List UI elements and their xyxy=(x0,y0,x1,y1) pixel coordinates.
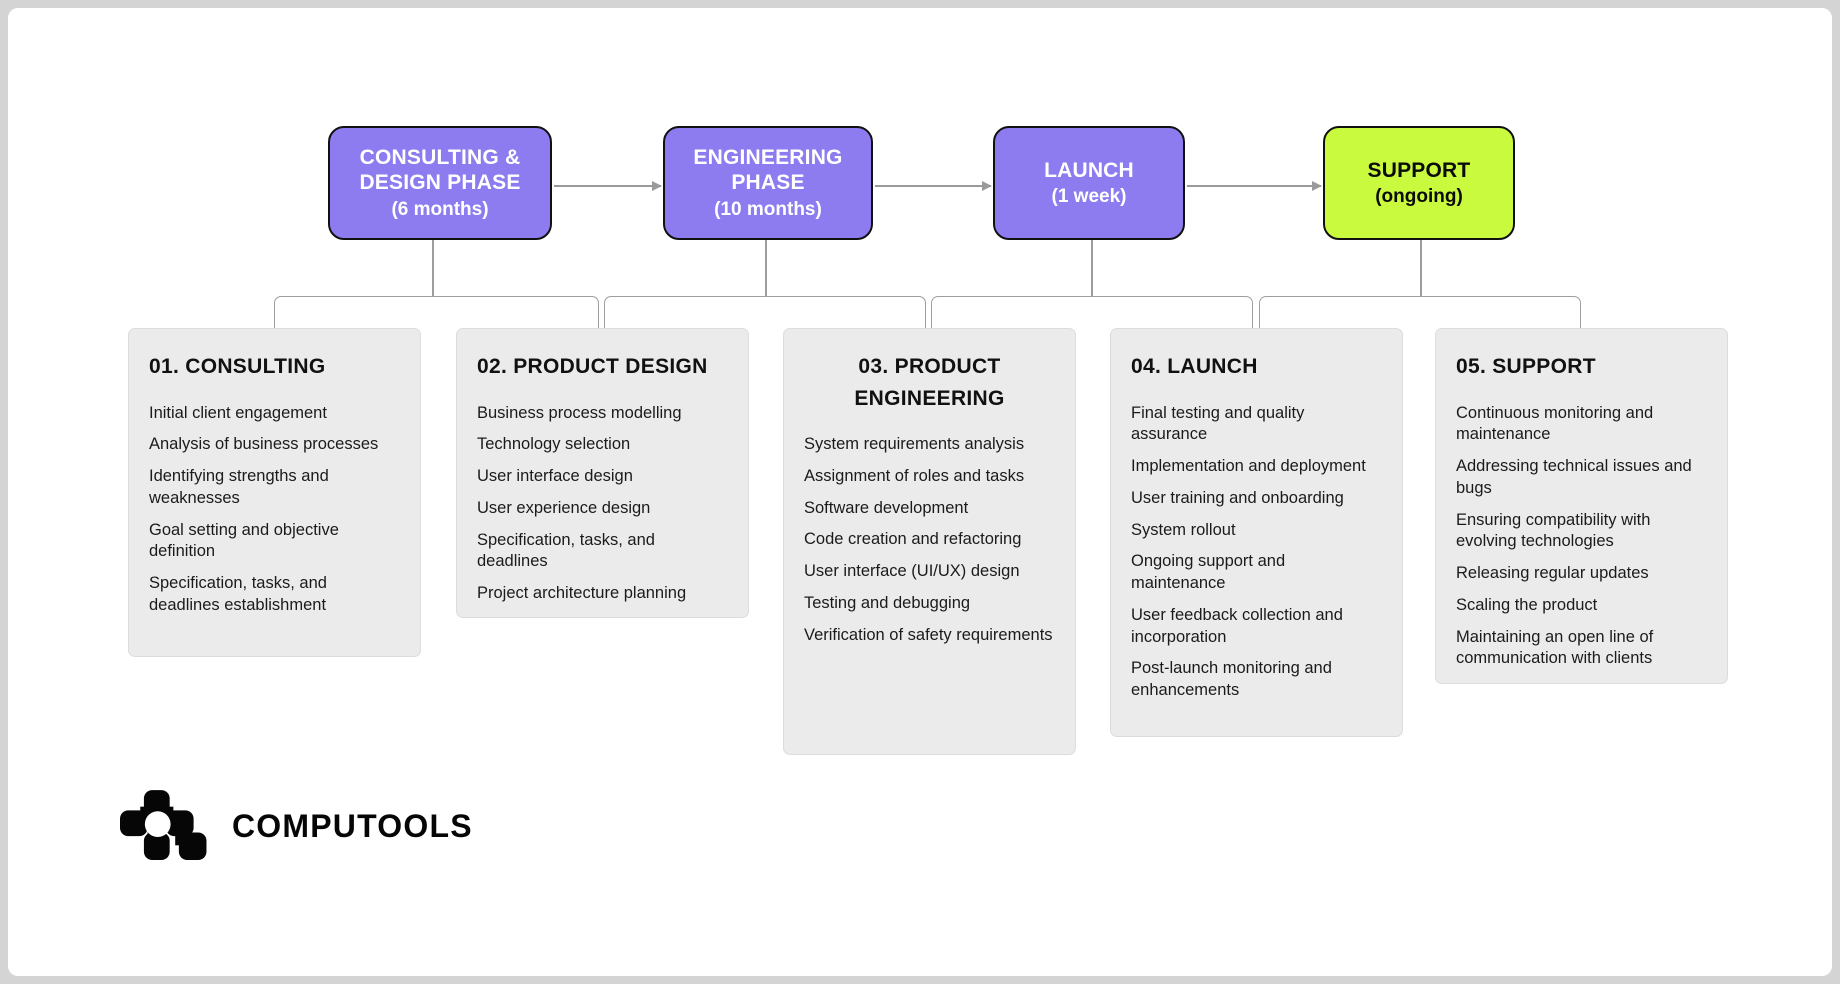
list-item: Specification, tasks, and deadlines esta… xyxy=(149,573,400,617)
card-item-list: Final testing and quality assurance Impl… xyxy=(1131,403,1382,702)
phase-title: LAUNCH xyxy=(1044,158,1134,184)
list-item: User experience design xyxy=(477,498,728,520)
card-title: 03. PRODUCT ENGINEERING xyxy=(804,351,1055,414)
list-item: Technology selection xyxy=(477,434,728,456)
phase-box-launch[interactable]: LAUNCH (1 week) xyxy=(993,126,1185,240)
list-item: Implementation and deployment xyxy=(1131,456,1382,478)
connector-drop-engineering xyxy=(765,240,767,296)
list-item: Ongoing support and maintenance xyxy=(1131,551,1382,595)
connector-drop-consulting xyxy=(432,240,434,296)
computools-blocks-icon xyxy=(120,790,212,862)
list-item: User interface design xyxy=(477,466,728,488)
phase-box-support[interactable]: SUPPORT (ongoing) xyxy=(1323,126,1515,240)
phase-title: SUPPORT xyxy=(1368,158,1471,184)
list-item: Verification of safety requirements xyxy=(804,625,1055,647)
list-item: System requirements analysis xyxy=(804,434,1055,456)
list-item: Final testing and quality assurance xyxy=(1131,403,1382,447)
list-item: Goal setting and objective definition xyxy=(149,520,400,564)
arrow-consulting-to-engineering xyxy=(554,185,661,187)
list-item: Post-launch monitoring and enhancements xyxy=(1131,658,1382,702)
card-item-list: System requirements analysis Assignment … xyxy=(804,434,1055,646)
list-item: User training and onboarding xyxy=(1131,488,1382,510)
list-item: Continuous monitoring and maintenance xyxy=(1456,403,1707,447)
card-title: 01. CONSULTING xyxy=(149,351,400,383)
list-item: Addressing technical issues and bugs xyxy=(1456,456,1707,500)
phase-duration: (ongoing) xyxy=(1375,185,1463,208)
phase-title: CONSULTING & DESIGN PHASE xyxy=(359,145,520,196)
phase-duration: (1 week) xyxy=(1052,185,1127,208)
list-item: Software development xyxy=(804,498,1055,520)
list-item: User feedback collection and incorporati… xyxy=(1131,605,1382,649)
card-title: 02. PRODUCT DESIGN xyxy=(477,351,728,383)
card-consulting[interactable]: 01. CONSULTING Initial client engagement… xyxy=(128,328,421,657)
list-item: System rollout xyxy=(1131,520,1382,542)
list-item: Project architecture planning xyxy=(477,583,728,605)
card-title: 05. SUPPORT xyxy=(1456,351,1707,383)
card-title: 04. LAUNCH xyxy=(1131,351,1382,383)
list-item: Ensuring compatibility with evolving tec… xyxy=(1456,510,1707,554)
list-item: User interface (UI/UX) design xyxy=(804,561,1055,583)
phase-box-consulting-design[interactable]: CONSULTING & DESIGN PHASE (6 months) xyxy=(328,126,552,240)
list-item: Testing and debugging xyxy=(804,593,1055,615)
connector-bracket-support xyxy=(1259,296,1581,332)
brand-logo: COMPUTOOLS xyxy=(120,790,473,862)
list-item: Releasing regular updates xyxy=(1456,563,1707,585)
card-item-list: Continuous monitoring and maintenance Ad… xyxy=(1456,403,1707,671)
list-item: Maintaining an open line of communicatio… xyxy=(1456,627,1707,671)
phase-duration: (10 months) xyxy=(714,198,822,221)
connector-bracket-consulting-design xyxy=(274,296,599,332)
list-item: Identifying strengths and weaknesses xyxy=(149,466,400,510)
diagram-canvas: CONSULTING & DESIGN PHASE (6 months) ENG… xyxy=(8,8,1832,976)
connector-drop-launch xyxy=(1091,240,1093,296)
card-support[interactable]: 05. SUPPORT Continuous monitoring and ma… xyxy=(1435,328,1728,684)
connector-bracket-launch xyxy=(931,296,1253,332)
list-item: Business process modelling xyxy=(477,403,728,425)
brand-name: COMPUTOOLS xyxy=(232,808,473,845)
list-item: Initial client engagement xyxy=(149,403,400,425)
arrow-launch-to-support xyxy=(1187,185,1321,187)
arrow-engineering-to-launch xyxy=(875,185,991,187)
card-launch[interactable]: 04. LAUNCH Final testing and quality ass… xyxy=(1110,328,1403,737)
list-item: Code creation and refactoring xyxy=(804,529,1055,551)
connector-bracket-engineering xyxy=(604,296,926,332)
phase-title: ENGINEERING PHASE xyxy=(693,145,842,196)
list-item: Specification, tasks, and deadlines xyxy=(477,530,728,574)
connector-drop-support xyxy=(1420,240,1422,296)
list-item: Analysis of business processes xyxy=(149,434,400,456)
card-product-design[interactable]: 02. PRODUCT DESIGN Business process mode… xyxy=(456,328,749,618)
list-item: Assignment of roles and tasks xyxy=(804,466,1055,488)
card-item-list: Initial client engagement Analysis of bu… xyxy=(149,403,400,617)
card-product-engineering[interactable]: 03. PRODUCT ENGINEERING System requireme… xyxy=(783,328,1076,755)
phase-duration: (6 months) xyxy=(391,198,488,221)
phase-box-engineering[interactable]: ENGINEERING PHASE (10 months) xyxy=(663,126,873,240)
card-item-list: Business process modelling Technology se… xyxy=(477,403,728,605)
list-item: Scaling the product xyxy=(1456,595,1707,617)
